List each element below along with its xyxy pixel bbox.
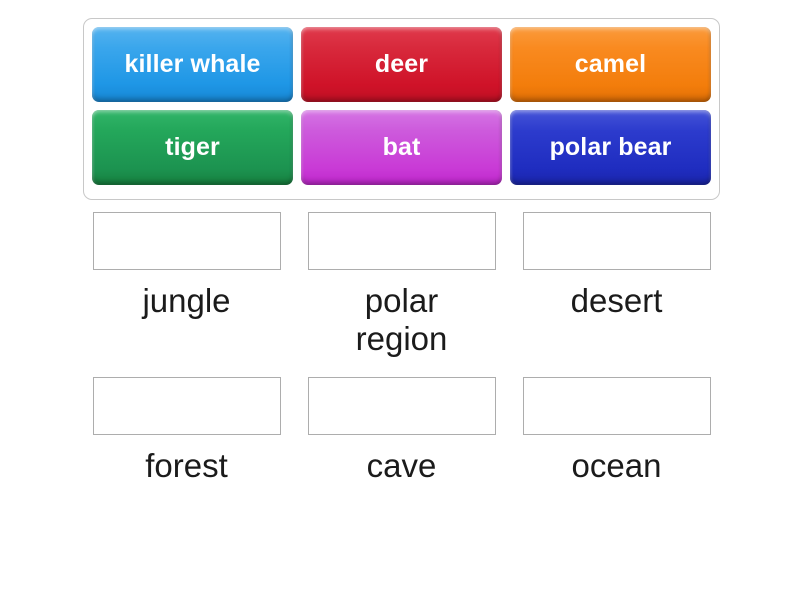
drop-zone-cell-jungle: jungle	[83, 212, 290, 359]
drop-zone-cell-cave: cave	[298, 377, 505, 485]
dropzone-caption-polar-region: polar region	[356, 282, 448, 359]
dropzone-caption-jungle: jungle	[142, 282, 230, 320]
word-tile-label: camel	[569, 51, 652, 77]
dropzone-polar-region[interactable]	[308, 212, 496, 270]
word-tile-polar-bear[interactable]: polar bear	[510, 110, 711, 185]
dropzone-jungle[interactable]	[93, 212, 281, 270]
dropzone-forest[interactable]	[93, 377, 281, 435]
word-tile-killer-whale[interactable]: killer whale	[92, 27, 293, 102]
drop-zone-row-1: jungle polar region desert	[83, 212, 720, 359]
dropzone-caption-desert: desert	[571, 282, 663, 320]
dropzone-caption-forest: forest	[145, 447, 228, 485]
word-tile-bat[interactable]: bat	[301, 110, 502, 185]
drop-zone-cell-polar-region: polar region	[298, 212, 505, 359]
word-tile-label: polar bear	[544, 134, 678, 160]
word-tile-label: deer	[369, 51, 434, 77]
word-bank-row-2: tiger bat polar bear	[92, 110, 711, 185]
dropzone-caption-cave: cave	[367, 447, 437, 485]
word-tile-camel[interactable]: camel	[510, 27, 711, 102]
drop-area-container: jungle polar region desert forest cave o…	[83, 212, 720, 485]
dropzone-caption-ocean: ocean	[572, 447, 662, 485]
dropzone-desert[interactable]	[523, 212, 711, 270]
drop-zone-cell-forest: forest	[83, 377, 290, 485]
word-bank-row-1: killer whale deer camel	[92, 27, 711, 102]
word-tile-label: killer whale	[119, 51, 267, 77]
word-bank-container: killer whale deer camel tiger bat polar …	[83, 18, 720, 200]
word-tile-label: bat	[377, 134, 427, 160]
drop-zone-cell-desert: desert	[513, 212, 720, 359]
word-tile-deer[interactable]: deer	[301, 27, 502, 102]
word-tile-label: tiger	[159, 134, 226, 160]
dropzone-ocean[interactable]	[523, 377, 711, 435]
word-tile-tiger[interactable]: tiger	[92, 110, 293, 185]
drop-zone-row-2: forest cave ocean	[83, 377, 720, 485]
dropzone-cave[interactable]	[308, 377, 496, 435]
drop-zone-cell-ocean: ocean	[513, 377, 720, 485]
